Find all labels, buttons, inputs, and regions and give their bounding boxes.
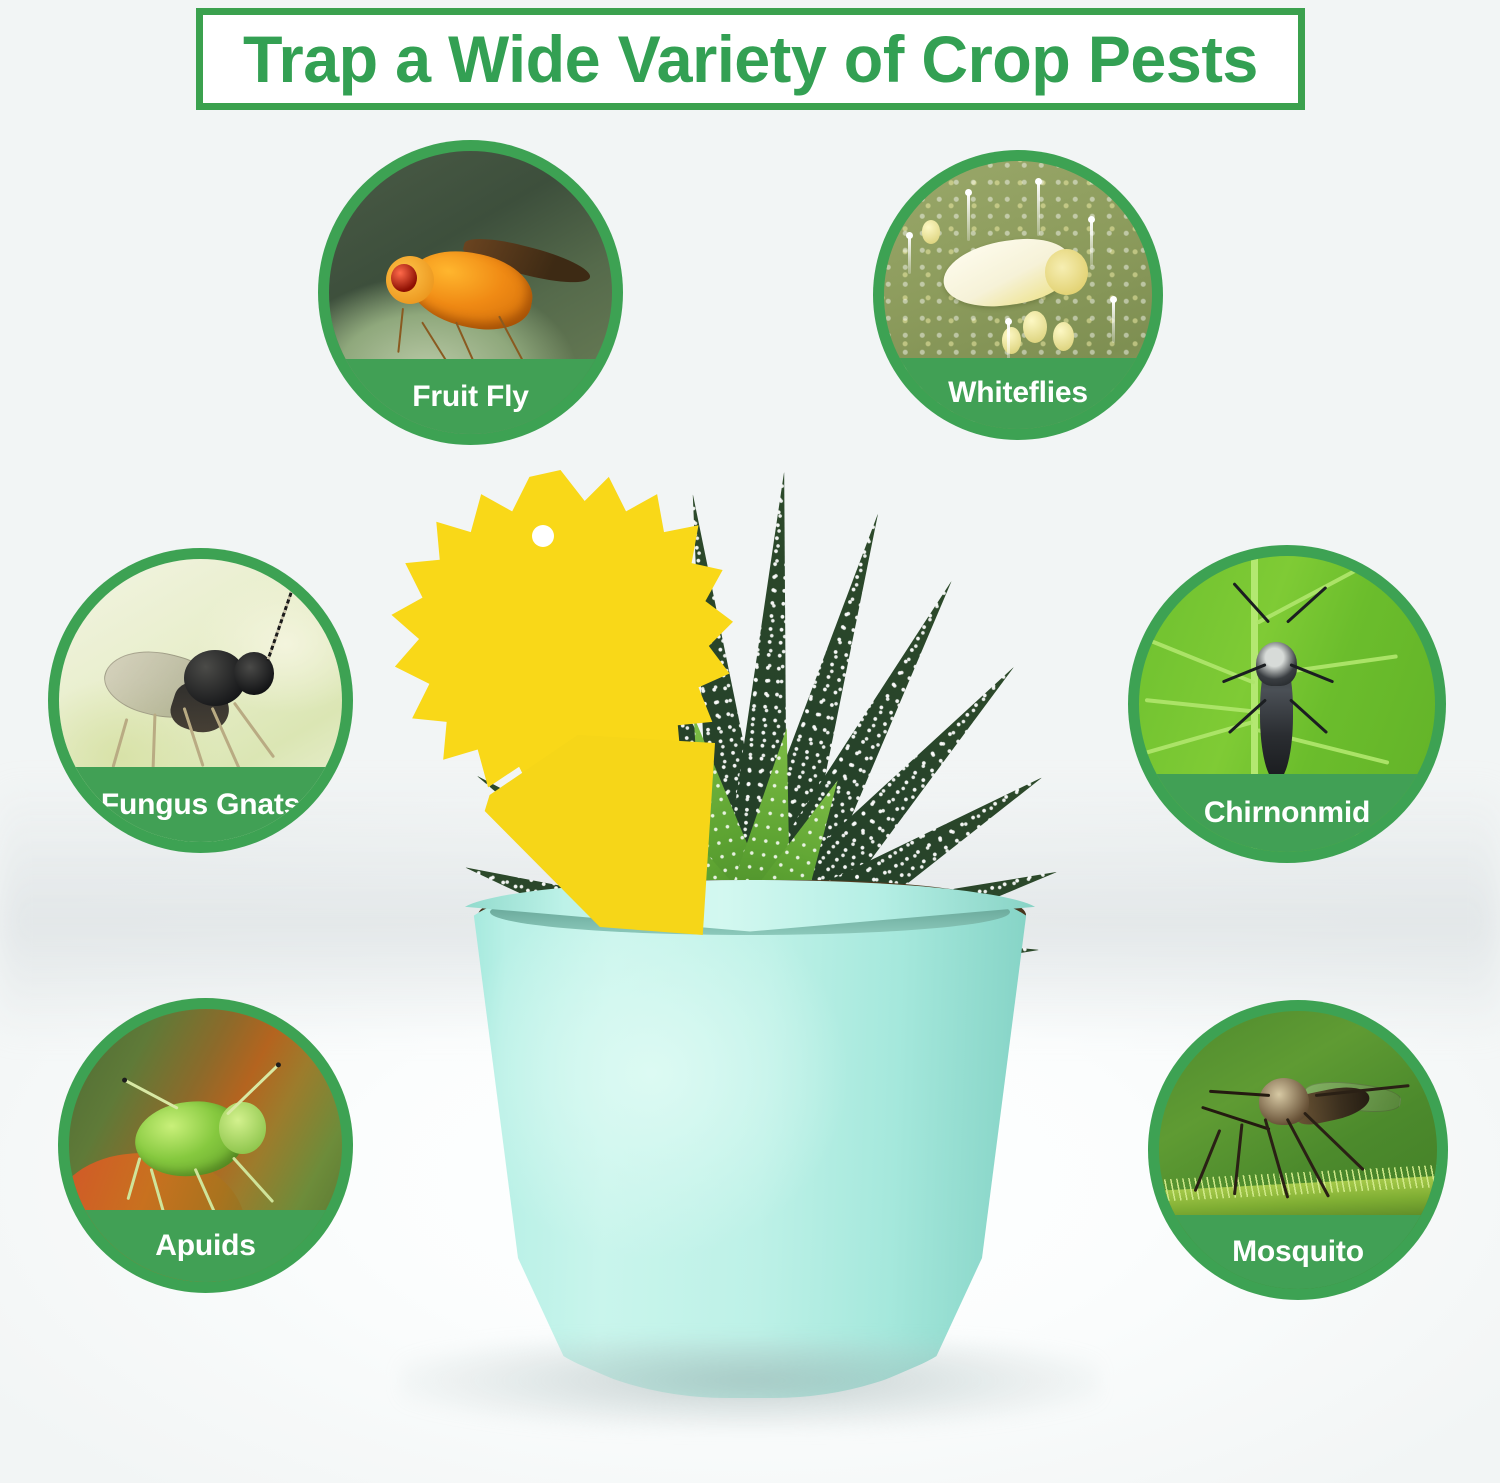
pest-label-whiteflies: Whiteflies [948,378,1088,408]
pest-label-apuids: Apuids [155,1231,255,1261]
pest-label-band: Chirnonmid [1139,774,1435,852]
pest-label-band: Whiteflies [884,358,1152,429]
pest-card-chirnonmid[interactable]: Chirnonmid [1128,545,1446,863]
pest-card-whiteflies[interactable]: Whiteflies [873,150,1163,440]
pest-label-band: Apuids [69,1210,342,1282]
pest-photo-chirnonmid: Chirnonmid [1139,556,1435,852]
pest-photo-apuids: Apuids [69,1009,342,1282]
pest-card-fungus-gnats[interactable]: Fungus Gnats [48,548,353,853]
pest-label-fungus-gnats: Fungus Gnats [101,790,300,820]
pest-label-band: Mosquito [1159,1215,1437,1289]
pest-label-band: Fruit Fly [329,359,612,434]
pest-card-fruit-fly[interactable]: Fruit Fly [318,140,623,445]
title-banner: Trap a Wide Variety of Crop Pests [196,8,1305,110]
pest-card-apuids[interactable]: Apuids [58,998,353,1293]
infographic-stage: Trap a Wide Variety of Crop Pests [0,0,1500,1483]
pest-label-mosquito: Mosquito [1232,1237,1364,1267]
pest-label-chirnonmid: Chirnonmid [1204,798,1370,828]
pest-label-fruit-fly: Fruit Fly [412,382,529,412]
pest-card-mosquito[interactable]: Mosquito [1148,1000,1448,1300]
pest-photo-fungus-gnats: Fungus Gnats [59,559,342,842]
page-title: Trap a Wide Variety of Crop Pests [214,15,1287,103]
pest-photo-fruit-fly: Fruit Fly [329,151,612,434]
pest-label-band: Fungus Gnats [59,767,342,842]
pest-photo-whiteflies: Whiteflies [884,161,1152,429]
pest-photo-mosquito: Mosquito [1159,1011,1437,1289]
